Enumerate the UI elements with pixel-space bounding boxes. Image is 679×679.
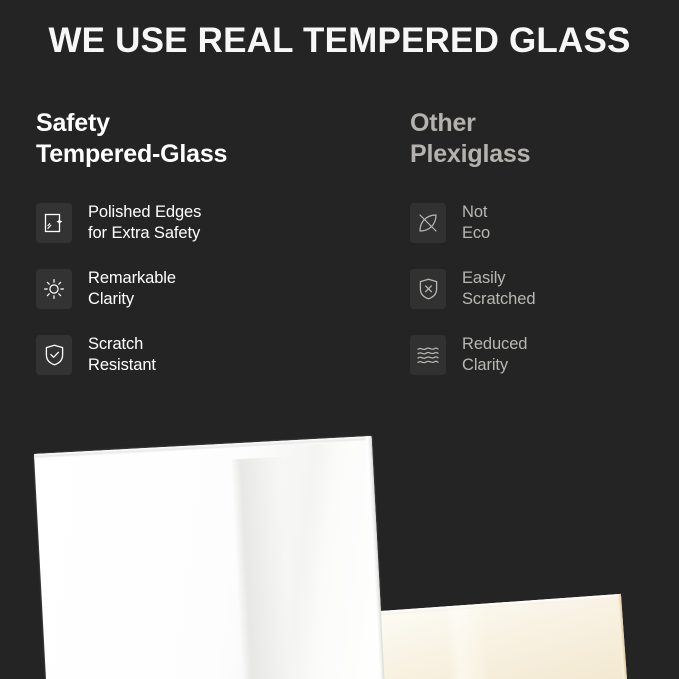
tempered-glass-panel-top-edge: [34, 436, 372, 459]
column-heading-plexiglass: Other Plexiglass: [410, 108, 679, 170]
feature-reduced-clarity: Reduced Clarity: [410, 334, 679, 376]
column-heading-line-1: Safety: [36, 108, 366, 139]
plexiglass-panel-top-edge: [360, 594, 622, 617]
feature-label-scratch-resistant: Scratch Resistant: [88, 334, 156, 376]
feature-line-2: Clarity: [88, 289, 176, 310]
leaf-crossed-out-icon: [410, 203, 446, 243]
feature-line-1: Scratch: [88, 334, 156, 355]
feature-polished-edges: Polished Edges for Extra Safety: [36, 202, 366, 244]
column-heading-line-2: Plexiglass: [410, 139, 679, 170]
feature-line-2: Eco: [462, 223, 490, 244]
feature-label-not-eco: Not Eco: [462, 202, 490, 244]
feature-line-2: Resistant: [88, 355, 156, 376]
feature-not-eco: Not Eco: [410, 202, 679, 244]
polished-edges-icon: [36, 203, 72, 243]
tempered-glass-panel: [34, 436, 385, 679]
feature-label-polished-edges: Polished Edges for Extra Safety: [88, 202, 201, 244]
feature-line-2: for Extra Safety: [88, 223, 201, 244]
feature-line-1: Reduced: [462, 334, 527, 355]
feature-label-reduced-clarity: Reduced Clarity: [462, 334, 527, 376]
feature-scratch-resistant: Scratch Resistant: [36, 334, 366, 376]
feature-line-1: Polished Edges: [88, 202, 201, 223]
column-heading-line-1: Other: [410, 108, 679, 139]
feature-line-1: Easily: [462, 268, 535, 289]
product-photo: [0, 398, 679, 679]
shield-x-icon: [410, 269, 446, 309]
product-comparison-infographic: WE USE REAL TEMPERED GLASS Safety Temper…: [0, 0, 679, 679]
tempered-glass-panel-right-edge: [365, 436, 386, 679]
feature-label-remarkable-clarity: Remarkable Clarity: [88, 268, 176, 310]
feature-line-1: Remarkable: [88, 268, 176, 289]
shield-check-icon: [36, 335, 72, 375]
column-heading-line-2: Tempered-Glass: [36, 139, 366, 170]
plexiglass-panel-reflection: [443, 604, 501, 679]
comparison-column-plexiglass: Other Plexiglass Not Eco: [410, 108, 679, 376]
sun-brightness-icon: [36, 269, 72, 309]
feature-easily-scratched: Easily Scratched: [410, 268, 679, 310]
tempered-glass-panel-reflection: [231, 455, 326, 679]
feature-line-2: Scratched: [462, 289, 535, 310]
feature-line-1: Not: [462, 202, 490, 223]
feature-label-easily-scratched: Easily Scratched: [462, 268, 535, 310]
plexiglass-panel-right-edge: [616, 594, 637, 679]
column-heading-tempered-glass: Safety Tempered-Glass: [36, 108, 366, 170]
page-title: WE USE REAL TEMPERED GLASS: [0, 20, 679, 62]
comparison-column-tempered-glass: Safety Tempered-Glass Polished Edges for…: [36, 108, 366, 376]
feature-remarkable-clarity: Remarkable Clarity: [36, 268, 366, 310]
wavy-lines-icon: [410, 335, 446, 375]
feature-line-2: Clarity: [462, 355, 527, 376]
plexiglass-panel: [360, 594, 638, 679]
